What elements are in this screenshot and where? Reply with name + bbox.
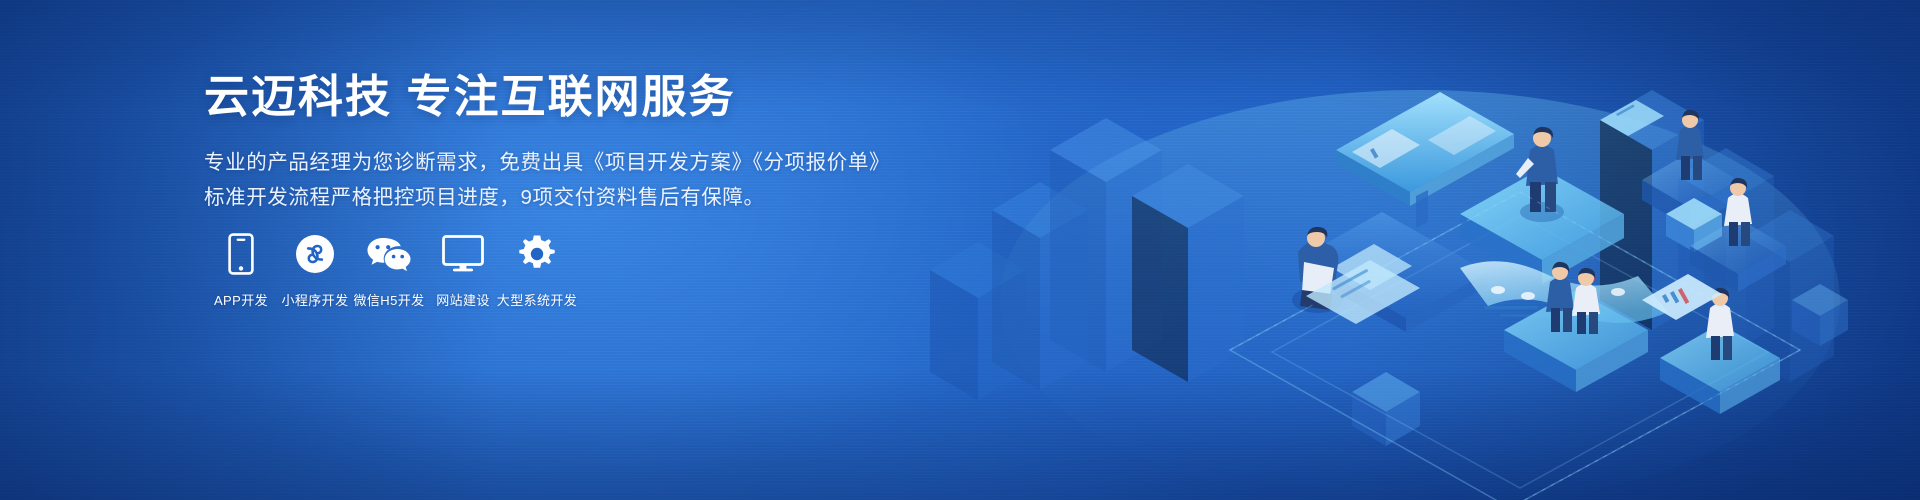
service-label: APP开发 <box>214 290 268 309</box>
wechat-icon <box>366 232 412 276</box>
page-title: 云迈科技 专注互联网服务 <box>204 70 964 123</box>
mobile-phone-icon <box>228 232 254 276</box>
isometric-illustration <box>900 0 1920 500</box>
service-item-wechat[interactable]: 微信H5开发 <box>352 232 426 309</box>
mini-program-icon <box>295 232 335 276</box>
monitor-icon <box>442 232 484 276</box>
gear-icon <box>517 232 557 276</box>
service-item-miniprogram[interactable]: 小程序开发 <box>278 232 352 309</box>
hero-subtitle-line-2: 标准开发流程严格把控项目进度，9项交付资料售后有保障。 <box>204 180 964 215</box>
service-item-website[interactable]: 网站建设 <box>426 232 500 309</box>
service-label: 大型系统开发 <box>497 290 577 309</box>
service-label: 微信H5开发 <box>353 290 424 309</box>
service-label: 小程序开发 <box>281 290 348 309</box>
hero-subtitle-line-1: 专业的产品经理为您诊断需求，免费出具《项目开发方案》《分项报价单》 <box>204 145 964 180</box>
service-item-system[interactable]: 大型系统开发 <box>500 232 574 309</box>
service-label: 网站建设 <box>436 290 490 309</box>
service-item-app[interactable]: APP开发 <box>204 232 278 309</box>
hero-banner: 云迈科技 专注互联网服务 专业的产品经理为您诊断需求，免费出具《项目开发方案》《… <box>0 0 1920 500</box>
service-list: APP开发 小程序开发 <box>204 232 574 309</box>
hero-copy: 云迈科技 专注互联网服务 专业的产品经理为您诊断需求，免费出具《项目开发方案》《… <box>204 70 964 216</box>
